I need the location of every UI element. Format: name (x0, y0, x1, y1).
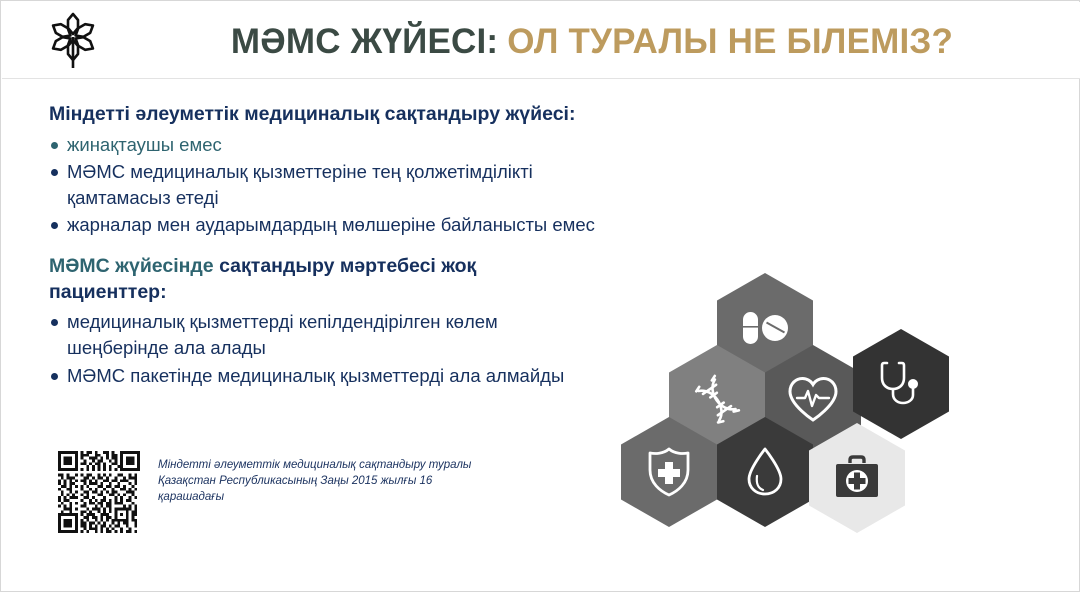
section-one-heading: Міндетті әлеуметтік медициналық сақтанды… (49, 101, 609, 128)
pill-capsule-icon (737, 308, 793, 348)
slide: МӘМС ЖҮЙЕСІ: ОЛ ТУРАЛЫ НЕ БІЛЕМІЗ? Мінде… (0, 0, 1080, 592)
section-two-bullet-list: медициналық қызметтерді кепілдендірілген… (49, 309, 569, 389)
section-two-heading-navy: сақтандыру мәртебесі жоқ (219, 255, 476, 277)
list-item: жарналар мен аударымдардың мөлшеріне бай… (49, 212, 609, 238)
section-two-heading-line2: пациенттер: (49, 281, 167, 303)
page-title-primary: МӘМС ЖҮЙЕСІ: (231, 22, 498, 62)
list-item: медициналық қызметтерді кепілдендірілген… (49, 309, 569, 361)
page-title: МӘМС ЖҮЙЕСІ: ОЛ ТУРАЛЫ НЕ БІЛЕМІЗ? (162, 14, 1022, 70)
section-two-heading: МӘМС жүйесінде сақтандыру мәртебесі жоқ … (49, 253, 569, 305)
section-one-bullet-list: жинақтаушы емес МӘМС медициналық қызметт… (49, 132, 609, 238)
slide-header: МӘМС ЖҮЙЕСІ: ОЛ ТУРАЛЫ НЕ БІЛЕМІЗ? (2, 2, 1080, 79)
stethoscope-icon (877, 358, 925, 410)
medical-hexagon-cluster (621, 263, 971, 553)
shield-cross-icon (645, 446, 693, 498)
qr-code[interactable] (58, 451, 140, 533)
dna-icon (691, 374, 743, 426)
list-item: МӘМС медициналық қызметтеріне тең қолжет… (49, 159, 609, 211)
section-two-heading-teal: МӘМС жүйесінде (49, 255, 214, 277)
hexagon-stethoscope (853, 329, 949, 439)
section-two: МӘМС жүйесінде сақтандыру мәртебесі жоқ … (49, 253, 569, 391)
first-aid-kit-icon (831, 453, 883, 503)
water-drop-icon (745, 446, 785, 498)
list-item: МӘМС пакетінде медициналық қызметтерді а… (49, 363, 569, 389)
section-one: Міндетті әлеуметтік медициналық сақтанды… (49, 101, 609, 239)
page-title-highlight: ОЛ ТУРАЛЫ НЕ БІЛЕМІЗ? (507, 22, 953, 62)
flower-ornament-logo (38, 10, 108, 72)
list-item: жинақтаушы емес (49, 132, 609, 158)
footnote-text: Міндетті әлеуметтік медициналық сақтанды… (158, 451, 498, 505)
heart-pulse-icon (786, 375, 840, 425)
footnote-row: Міндетті әлеуметтік медициналық сақтанды… (58, 451, 498, 533)
